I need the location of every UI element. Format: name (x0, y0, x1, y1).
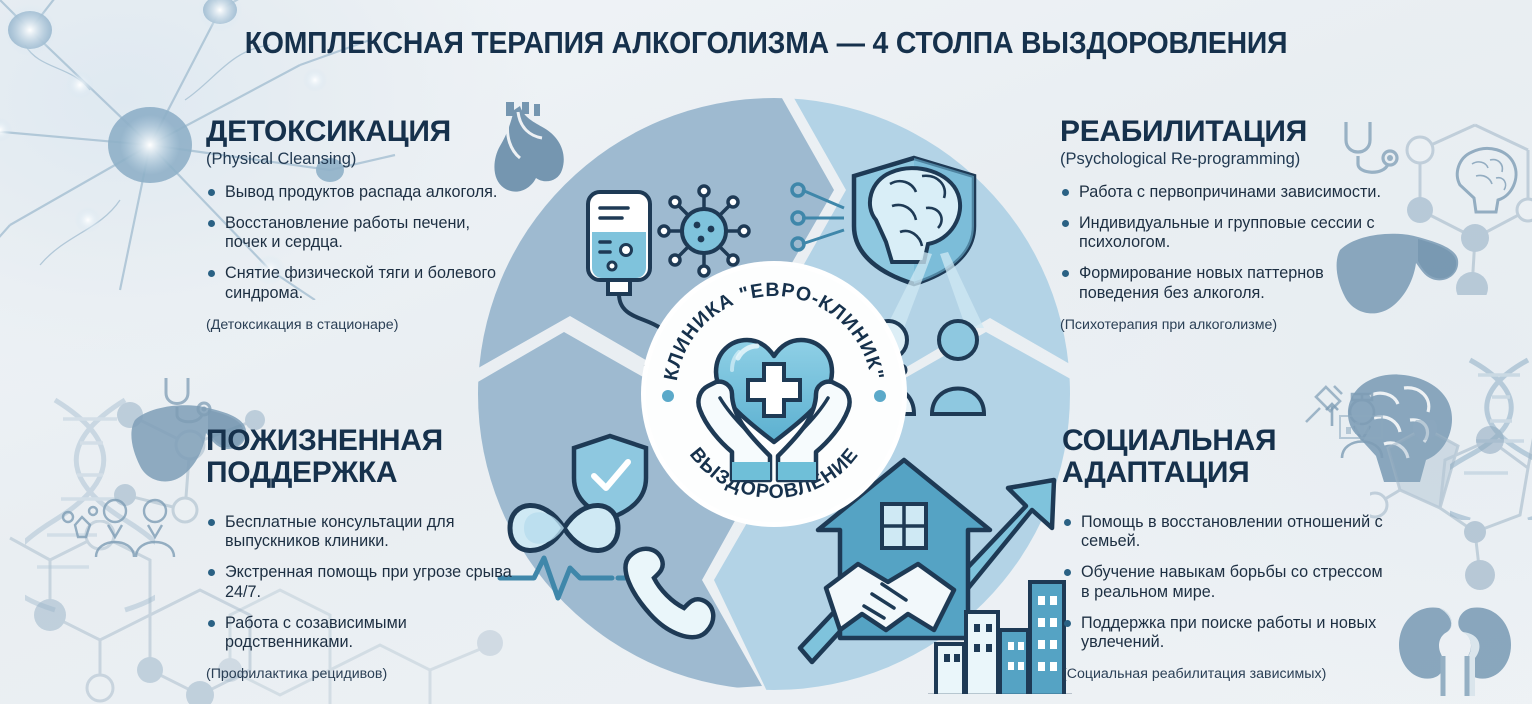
support-bullets: Бесплатные консультации для выпускников … (206, 513, 526, 654)
recovery-wheel: КЛИНИКА "ЕВРО-КЛИНИК" ВЫЗДОРОВЛЕНИЕ (474, 94, 1074, 694)
list-item: Помощь в восстановлении отношений с семь… (1062, 513, 1392, 553)
page-title: КОМПЛЕКСНАЯ ТЕРАПИЯ АЛКОГОЛИЗМА — 4 СТОЛ… (54, 26, 1479, 61)
emblem-dot-left (662, 390, 674, 402)
list-item: Работа с созависимыми родственниками. (206, 614, 526, 654)
detox-heading: ДЕТОКСИКАЦИЯ (206, 116, 506, 148)
rehab-note: (Психотерапия при алкоголизме) (1060, 317, 1390, 333)
doctor-icon (60, 495, 190, 560)
rehab-heading: РЕАБИЛИТАЦИЯ (1060, 116, 1390, 148)
molecule-icon (1400, 120, 1532, 295)
list-item: Обучение навыкам борьбы со стрессом в ре… (1062, 563, 1392, 603)
list-item: Вывод продуктов распада алкоголя. (206, 183, 506, 203)
dna-helix-icon (1450, 355, 1532, 520)
detox-bullets: Вывод продуктов распада алкоголя. Восста… (206, 183, 506, 304)
list-item: Снятие физической тяги и болевого синдро… (206, 264, 506, 304)
rehab-subheading: (Psychological Re-programming) (1060, 150, 1390, 169)
list-item: Экстренная помощь при угрозе срыва 24/7. (206, 563, 526, 603)
emblem-dot-right (874, 390, 886, 402)
support-note: (Профилактика рецидивов) (206, 666, 526, 682)
emblem-graphic: КЛИНИКА "ЕВРО-КЛИНИК" ВЫЗДОРОВЛЕНИЕ (646, 266, 902, 522)
block-support: ПОЖИЗНЕННАЯ ПОДДЕРЖКА Бесплатные консуль… (206, 425, 526, 682)
dna-helix-icon (25, 395, 155, 615)
virus-icon (659, 186, 749, 276)
social-heading: СОЦИАЛЬНАЯ АДАПТАЦИЯ (1062, 425, 1392, 489)
detox-subheading: (Physical Cleansing) (206, 150, 506, 169)
social-bullets: Помощь в восстановлении отношений с семь… (1062, 513, 1392, 654)
list-item: Восстановление работы печени, почек и се… (206, 214, 506, 254)
block-detox: ДЕТОКСИКАЦИЯ (Physical Cleansing) Вывод … (206, 116, 506, 333)
center-emblem: КЛИНИКА "ЕВРО-КЛИНИК" ВЫЗДОРОВЛЕНИЕ (646, 266, 902, 522)
block-rehab: РЕАБИЛИТАЦИЯ (Psychological Re-programmi… (1060, 116, 1390, 333)
block-social: СОЦИАЛЬНАЯ АДАПТАЦИЯ Помощь в восстановл… (1062, 425, 1392, 682)
infographic-canvas: КОМПЛЕКСНАЯ ТЕРАПИЯ АЛКОГОЛИЗМА — 4 СТОЛ… (0, 0, 1532, 704)
brain-icon (1450, 140, 1525, 215)
list-item: Индивидуальные и групповые сессии с псих… (1060, 214, 1390, 254)
rehab-bullets: Работа с первопричинами зависимости. Инд… (1060, 183, 1390, 304)
list-item: Бесплатные консультации для выпускников … (206, 513, 526, 553)
stethoscope-icon (158, 373, 218, 428)
list-item: Поддержка при поиске работы и новых увле… (1062, 614, 1392, 654)
molecule-icon (1370, 420, 1532, 600)
list-item: Работа с первопричинами зависимости. (1060, 183, 1390, 203)
list-item: Формирование новых паттернов поведения б… (1060, 264, 1390, 304)
kidneys-icon (1395, 600, 1515, 700)
social-note: (Социальная реабилитация зависимых) (1062, 666, 1392, 682)
detox-note: (Детоксикация в стационаре) (206, 317, 506, 333)
support-heading: ПОЖИЗНЕННАЯ ПОДДЕРЖКА (206, 425, 526, 489)
syringe-icon (1300, 380, 1348, 428)
